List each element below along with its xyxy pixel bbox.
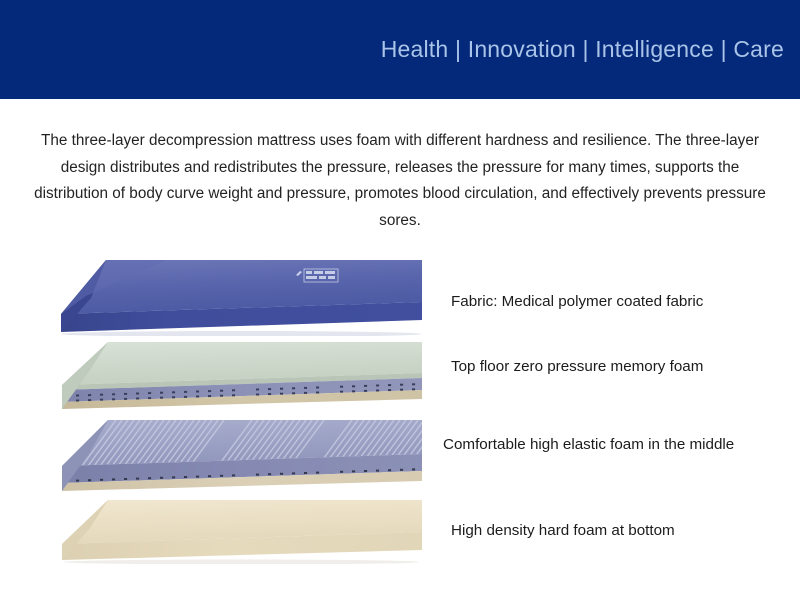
mattress-layers-diagram: Fabric: Medical polymer coated fabric <box>0 250 800 570</box>
intro-paragraph: The three-layer decompression mattress u… <box>30 128 770 234</box>
layer-caption-fabric-cover: Fabric: Medical polymer coated fabric <box>451 293 703 310</box>
mattress-layer-high-density-foam: High density hard foam at bottom <box>0 498 800 570</box>
header-band: Health | Innovation | Intelligence | Car… <box>0 0 800 99</box>
layer-caption-high-elastic-foam: Comfortable high elastic foam in the mid… <box>443 436 734 453</box>
mattress-slab-icon <box>46 258 436 336</box>
mattress-slab-icon <box>46 340 436 410</box>
mattress-slab-icon <box>46 498 436 564</box>
layer-caption-memory-foam: Top floor zero pressure memory foam <box>451 358 703 375</box>
page-title: Health | Innovation | Intelligence | Car… <box>381 35 784 63</box>
mattress-layer-memory-foam: Top floor zero pressure memory foam <box>0 340 800 418</box>
mattress-slab-icon <box>46 418 436 494</box>
mattress-layer-high-elastic-foam: Comfortable high elastic foam in the mid… <box>0 418 800 498</box>
mattress-layer-fabric-cover: Fabric: Medical polymer coated fabric <box>0 258 800 338</box>
layer-caption-high-density-foam: High density hard foam at bottom <box>451 522 675 539</box>
